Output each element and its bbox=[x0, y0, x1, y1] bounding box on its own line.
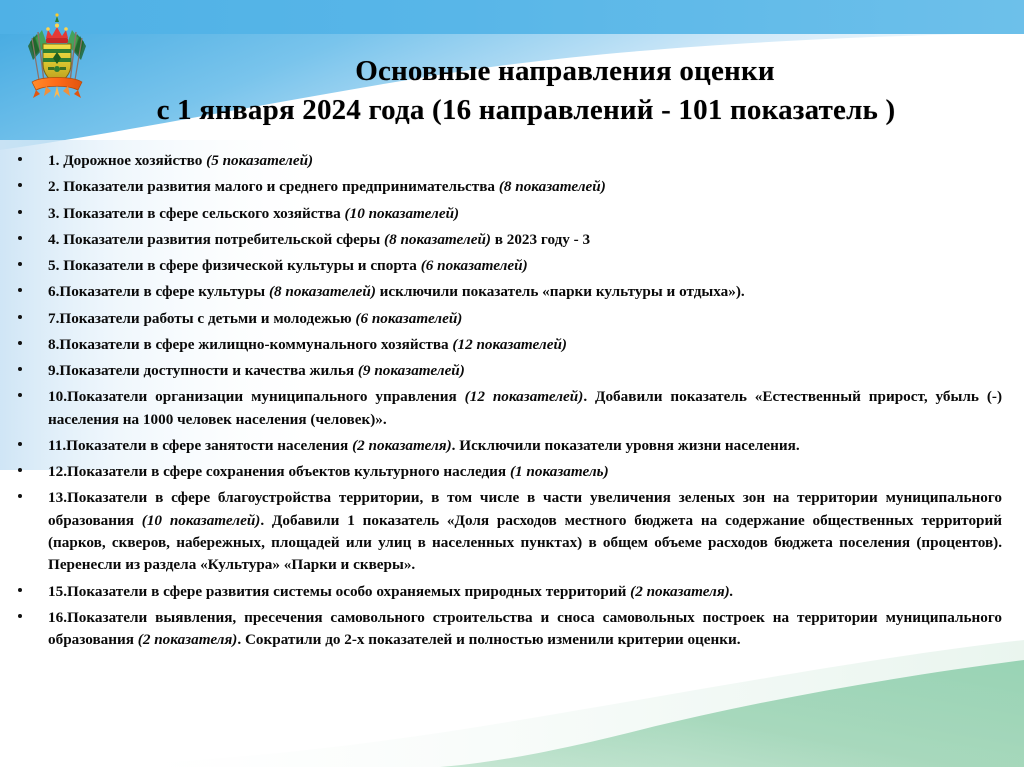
slide-header: Основные направления оценки с 1 января 2… bbox=[0, 0, 1024, 148]
list-item-text: 10.Показатели организации муниципального… bbox=[48, 386, 1002, 431]
indicator-count: (6 показателей) bbox=[355, 310, 462, 327]
indicator-count: (5 показателей) bbox=[206, 152, 313, 169]
slide-body: 1. Дорожное хозяйство (5 показателей)2. … bbox=[0, 150, 1024, 651]
list-item-text: 6.Показатели в сфере культуры (8 показат… bbox=[48, 281, 1002, 303]
item-phrase: в 2023 году - 3 bbox=[491, 231, 590, 248]
list-item: 1. Дорожное хозяйство (5 показателей) bbox=[16, 150, 1002, 172]
list-item-text: 13.Показатели в сфере благоустройства те… bbox=[48, 487, 1002, 576]
item-phrase: 1. Дорожное хозяйство bbox=[48, 152, 206, 169]
list-item-text: 5. Показатели в сфере физической культур… bbox=[48, 255, 1002, 277]
item-phrase: 12.Показатели в сфере сохранения объекто… bbox=[48, 463, 510, 480]
item-phrase: 10.Показатели организации муниципального… bbox=[48, 388, 465, 405]
item-phrase: 8.Показатели в сфере жилищно-коммунально… bbox=[48, 336, 452, 353]
item-phrase: 6.Показатели в сфере культуры bbox=[48, 283, 269, 300]
item-phrase: . Исключили показатели уровня жизни насе… bbox=[452, 437, 800, 454]
indicator-count: (12 показателей) bbox=[452, 336, 567, 353]
list-item: 3. Показатели в сфере сельского хозяйств… bbox=[16, 203, 1002, 225]
page-title: Основные направления оценки с 1 января 2… bbox=[120, 52, 1010, 130]
list-item-text: 8.Показатели в сфере жилищно-коммунально… bbox=[48, 334, 1002, 356]
list-item: 6.Показатели в сфере культуры (8 показат… bbox=[16, 281, 1002, 303]
bullet-point-icon bbox=[18, 367, 22, 371]
list-item-text: 3. Показатели в сфере сельского хозяйств… bbox=[48, 203, 1002, 225]
list-item-text: 12.Показатели в сфере сохранения объекто… bbox=[48, 461, 1002, 483]
list-item: 8.Показатели в сфере жилищно-коммунально… bbox=[16, 334, 1002, 356]
list-item-text: 2. Показатели развития малого и среднего… bbox=[48, 176, 1002, 198]
item-phrase: 9.Показатели доступности и качества жиль… bbox=[48, 362, 358, 379]
list-item: 7.Показатели работы с детьми и молодежью… bbox=[16, 308, 1002, 330]
list-item: 13.Показатели в сфере благоустройства те… bbox=[16, 487, 1002, 576]
indicator-count: (8 показателей) bbox=[499, 178, 606, 195]
green-swoosh-faint bbox=[150, 640, 1024, 767]
item-phrase: 2. Показатели развития малого и среднего… bbox=[48, 178, 499, 195]
item-phrase: 15.Показатели в сфере развития системы о… bbox=[48, 583, 630, 600]
bullet-point-icon bbox=[18, 341, 22, 345]
list-item-text: 11.Показатели в сфере занятости населени… bbox=[48, 435, 1002, 457]
green-swoosh bbox=[440, 660, 1024, 767]
indicator-count: (8 показателей) bbox=[384, 231, 491, 248]
bullet-point-icon bbox=[18, 157, 22, 161]
list-item-text: 1. Дорожное хозяйство (5 показателей) bbox=[48, 150, 1002, 172]
indicator-count: (2 показателя) bbox=[352, 437, 452, 454]
indicator-count: (10 показателей) bbox=[345, 205, 460, 222]
indicator-count: (2 показателя) bbox=[138, 631, 238, 648]
directions-list: 1. Дорожное хозяйство (5 показателей)2. … bbox=[0, 150, 1024, 651]
item-phrase: 5. Показатели в сфере физической культур… bbox=[48, 257, 421, 274]
bullet-point-icon bbox=[18, 393, 22, 397]
bullet-point-icon bbox=[18, 468, 22, 472]
list-item: 15.Показатели в сфере развития системы о… bbox=[16, 581, 1002, 603]
item-phrase: . Сократили до 2-х показателей и полност… bbox=[237, 631, 740, 648]
list-item: 2. Показатели развития малого и среднего… bbox=[16, 176, 1002, 198]
presentation-slide: Основные направления оценки с 1 января 2… bbox=[0, 0, 1024, 767]
list-item-text: 4. Показатели развития потребительской с… bbox=[48, 229, 1002, 251]
list-item: 12.Показатели в сфере сохранения объекто… bbox=[16, 461, 1002, 483]
indicator-count: (12 показателей) bbox=[465, 388, 584, 405]
list-item: 16.Показатели выявления, пресечения само… bbox=[16, 607, 1002, 652]
title-line-1: Основные направления оценки bbox=[120, 52, 1010, 91]
bullet-point-icon bbox=[18, 236, 22, 240]
list-item: 4. Показатели развития потребительской с… bbox=[16, 229, 1002, 251]
list-item: 10.Показатели организации муниципального… bbox=[16, 386, 1002, 431]
bullet-point-icon bbox=[18, 315, 22, 319]
item-phrase: 4. Показатели развития потребительской с… bbox=[48, 231, 384, 248]
emblem-crown bbox=[46, 13, 68, 43]
list-item-text: 9.Показатели доступности и качества жиль… bbox=[48, 360, 1002, 382]
list-item-text: 16.Показатели выявления, пресечения само… bbox=[48, 607, 1002, 652]
list-item: 9.Показатели доступности и качества жиль… bbox=[16, 360, 1002, 382]
item-phrase: 11.Показатели в сфере занятости населени… bbox=[48, 437, 352, 454]
item-phrase: 3. Показатели в сфере сельского хозяйств… bbox=[48, 205, 345, 222]
indicator-count: (6 показателей) bbox=[421, 257, 528, 274]
list-item: 11.Показатели в сфере занятости населени… bbox=[16, 435, 1002, 457]
indicator-count: (9 показателей) bbox=[358, 362, 465, 379]
item-phrase: 7.Показатели работы с детьми и молодежью bbox=[48, 310, 355, 327]
bullet-point-icon bbox=[18, 183, 22, 187]
list-item-text: 15.Показатели в сфере развития системы о… bbox=[48, 581, 1002, 603]
title-line-2: с 1 января 2024 года (16 направлений - 1… bbox=[42, 91, 1010, 130]
bullet-point-icon bbox=[18, 614, 22, 618]
indicator-count: (2 показателя). bbox=[630, 583, 733, 600]
bullet-point-icon bbox=[18, 442, 22, 446]
list-item: 5. Показатели в сфере физической культур… bbox=[16, 255, 1002, 277]
bullet-point-icon bbox=[18, 210, 22, 214]
indicator-count: (1 показатель) bbox=[510, 463, 609, 480]
bullet-point-icon bbox=[18, 588, 22, 592]
bullet-point-icon bbox=[18, 288, 22, 292]
indicator-count: (10 показателей) bbox=[142, 512, 261, 529]
bullet-point-icon bbox=[18, 262, 22, 266]
indicator-count: (8 показателей) bbox=[269, 283, 376, 300]
list-item-text: 7.Показатели работы с детьми и молодежью… bbox=[48, 308, 1002, 330]
bullet-point-icon bbox=[18, 494, 22, 498]
item-phrase: исключили показатель «парки культуры и о… bbox=[376, 283, 745, 300]
